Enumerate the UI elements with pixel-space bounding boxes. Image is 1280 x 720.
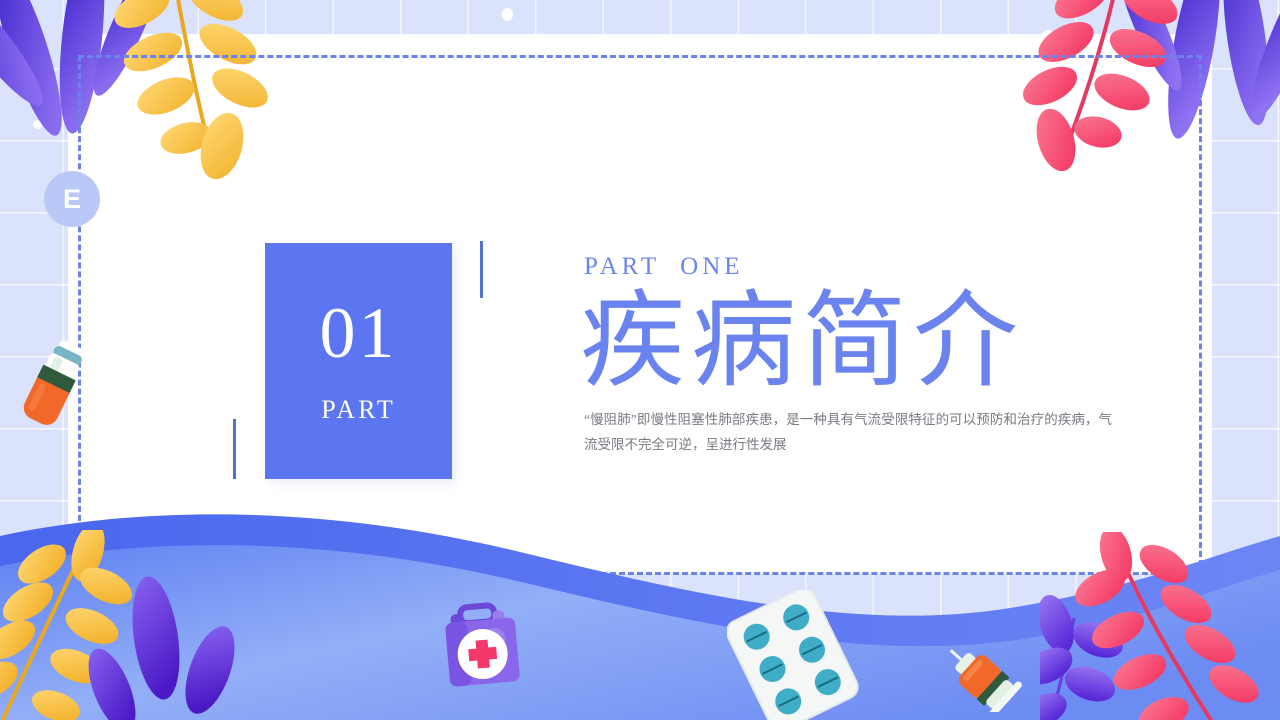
first-aid-kit-icon (437, 600, 529, 692)
section-word: PART (321, 395, 396, 425)
decoration-bottom-left-leaves (0, 530, 260, 720)
eyebrow-label: PART ONE (584, 254, 1124, 279)
section-number-box: 01 PART (265, 243, 452, 479)
page-title: 疾病简介 (580, 285, 1124, 398)
accent-bar-top-right (480, 241, 483, 298)
text-block: PART ONE 疾病简介 “慢阻肺”即慢性阻塞性肺部疾患，是一种具有气流受限特… (584, 254, 1124, 458)
description-text: “慢阻肺”即慢性阻塞性肺部疾患，是一种具有气流受限特征的可以预防和治疗的疾病，气… (584, 408, 1112, 458)
accent-bar-bottom-left (233, 419, 236, 479)
syringe-icon (928, 634, 1024, 712)
section-number: 01 (320, 297, 398, 369)
pill-blister-pack-icon (727, 590, 872, 720)
slide-canvas: E 01 PART PART ONE 疾病简介 “慢阻肺”即慢性阻塞性肺部疾患，… (0, 0, 1280, 720)
e-badge: E (44, 171, 100, 227)
decoration-bottom-right-leaves (1040, 532, 1280, 720)
e-badge-letter: E (63, 184, 81, 215)
